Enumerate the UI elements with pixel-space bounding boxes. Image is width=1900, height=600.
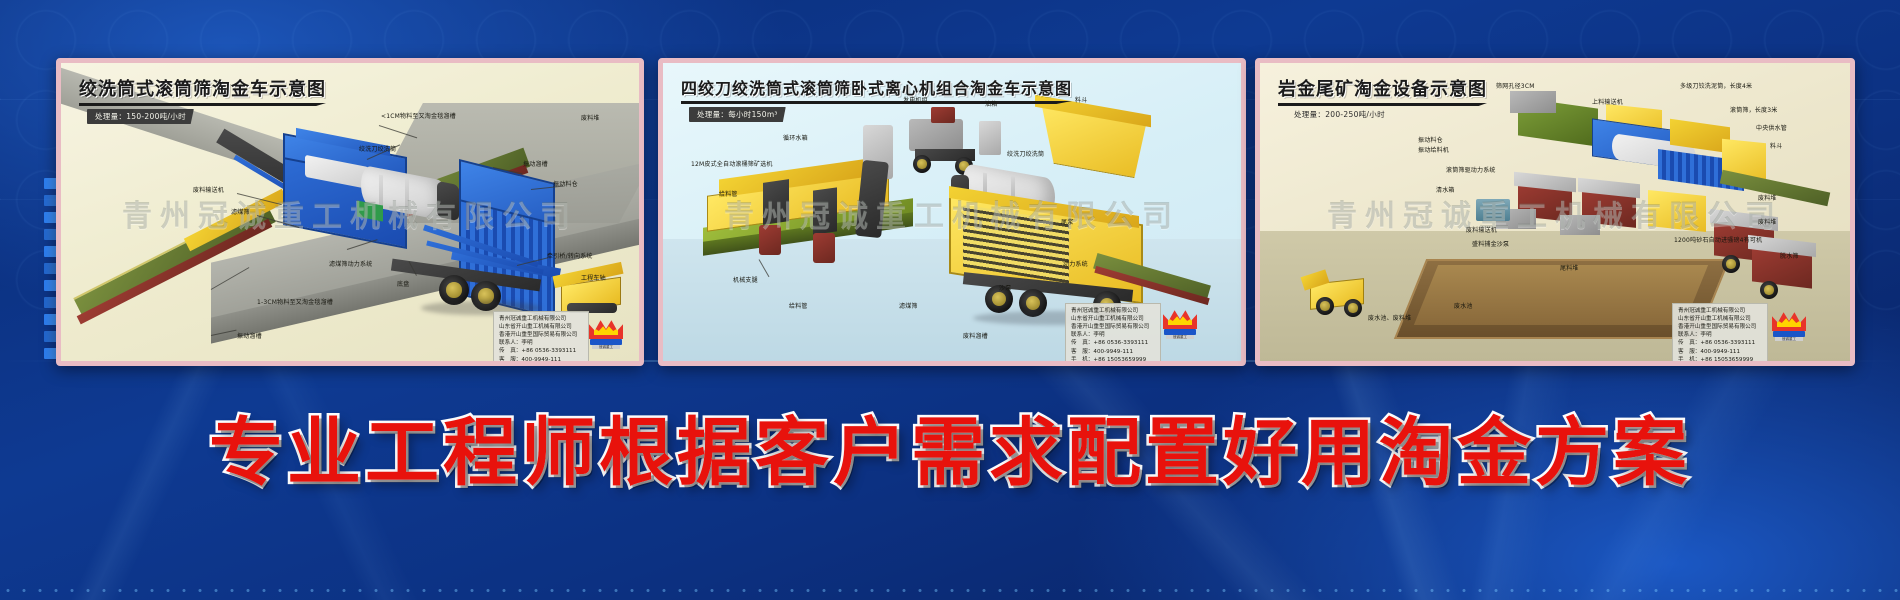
clean-water-tank — [1476, 199, 1510, 221]
label-2-8: 给料管 — [789, 303, 808, 311]
panel-1-title-rule — [79, 103, 326, 106]
label-2-5: 绞洗刀绞洗筒 — [1007, 151, 1044, 159]
panel-1-title: 绞洗筒式滚筒筛淘金车示意图 — [79, 75, 326, 101]
contact-service-label: 客 服 — [1678, 349, 1695, 355]
contact-company-1: 青州冠诚重工机械有限公司 — [1071, 307, 1155, 315]
contact-fax-label: 传 真 — [1678, 340, 1695, 346]
module-yellow-1 — [1648, 190, 1706, 232]
contact-fax-label: 传 真 — [1071, 340, 1088, 346]
label-2-7: 机械支腿 — [733, 277, 758, 285]
label-3-9: 清水箱 — [1436, 187, 1455, 195]
support-leg-2 — [813, 233, 835, 263]
label-1-1: 废料堆 — [581, 115, 600, 123]
panel-2-title: 四绞刀绞洗筒式滚筒筛卧式离心机组合淘金车示意图 — [681, 75, 1072, 99]
loader-wheel-1 — [1316, 297, 1334, 315]
label-3-3: 滚筒筛，长度3米 — [1730, 107, 1777, 115]
contact-company-3: 香港开山重型国际贸易有限公司 — [1071, 323, 1155, 331]
panel-2-title-rule — [681, 101, 1072, 104]
panel-3-title-rule — [1278, 103, 1487, 106]
label-2-9: 滤煤筛 — [899, 303, 918, 311]
panel-1-contact-card: 青州冠诚重工机械有限公司 山东省开山重工机械有限公司 香港开山重型国际贸易有限公… — [493, 311, 589, 361]
panel-1-canvas: 青州冠诚重工机械有限公司 绞洗筒式滚筒筛淘金车示意图 处理量：150-200吨/… — [61, 63, 639, 361]
panel-3-title-block: 岩金尾矿淘金设备示意图 — [1278, 75, 1487, 106]
company-logo-icon: 冠诚重工 — [589, 319, 623, 349]
label-1-11: 1-3CM物料至又淘金毯溜槽 — [257, 299, 333, 307]
label-2-3: 料斗 — [1075, 97, 1087, 105]
label-3-10: 废料输送机 — [1466, 227, 1497, 235]
logo-caption: 冠诚重工 — [1166, 335, 1194, 339]
label-3-13: 废料堆 — [1758, 219, 1777, 227]
poster-stage: 青州冠诚重工机械有限公司 绞洗筒式滚筒筛淘金车示意图 处理量：150-200吨/… — [0, 0, 1900, 600]
label-1-10: 工程车轴 — [581, 275, 606, 283]
label-3-14: 尾料堆 — [1560, 265, 1579, 273]
fuel-tank — [979, 121, 1001, 155]
contact-company-2: 山东省开山重工机械有限公司 — [1071, 315, 1155, 323]
contact-mobile: +86 15053659999 — [1093, 357, 1146, 361]
label-3-11: 盛料捕金沙泵 — [1472, 241, 1509, 249]
trommel-discharge — [437, 181, 459, 221]
logo-caption: 冠诚重工 — [1775, 337, 1803, 341]
label-2-6: 给料管 — [719, 191, 738, 199]
label-3-7: 料斗 — [1770, 143, 1782, 151]
label-2-4: 12M皮式全自动滚桶筛矿选机 — [691, 161, 773, 169]
contact-service: 400-9949-111 — [521, 357, 561, 361]
crown-icon — [589, 319, 623, 339]
screen-wheel-2 — [1760, 281, 1778, 299]
logo-caption: 冠诚重工 — [592, 345, 620, 349]
bottom-banner: 专业工程师根据客户需求配置好用淘金方案 — [0, 366, 1900, 526]
label-3-6: 中央供水管 — [1756, 125, 1787, 133]
generator-set — [909, 119, 963, 151]
label-3-1: 多级刀铰洗泥筒，长度4米 — [1680, 83, 1752, 91]
panel-rock-gold-tailings-plant[interactable]: 青州冠诚重工机械有限公司 岩金尾矿淘金设备示意图 处理量：200-250吨/小时… — [1255, 58, 1855, 366]
contact-mobile: +86 15053659999 — [1700, 357, 1753, 361]
label-2-12: 动力系统 — [1063, 261, 1088, 269]
contact-service-label: 客 服 — [1071, 349, 1088, 355]
contact-company-3: 香港开山重型国际贸易有限公司 — [499, 331, 583, 339]
contact-mobile-label: 手 机 — [1678, 357, 1695, 361]
contact-company-2: 山东省开山重工机械有限公司 — [1678, 315, 1762, 323]
label-3-2: 上料输送机 — [1592, 99, 1623, 107]
pump-unit-2 — [1560, 215, 1600, 235]
crown-icon — [1772, 311, 1806, 331]
panel-3-capacity-badge: 处理量：200-250吨/小时 — [1286, 107, 1393, 122]
label-2-0: 循环水箱 — [783, 135, 808, 143]
panel-3-contact-card: 青州冠诚重工机械有限公司 山东省开山重工机械有限公司 香港开山重型国际贸易有限公… — [1672, 303, 1768, 361]
contact-fax: +86 0536-3393111 — [1093, 340, 1148, 346]
contact-fax: +86 0536-3393111 — [521, 348, 576, 354]
label-3-18: 废水池、废料堆 — [1368, 315, 1411, 323]
label-1-9: 牵引桥/转向系统 — [547, 253, 593, 261]
panel-1-title-block: 绞洗筒式滚筒筛淘金车示意图 — [79, 75, 326, 106]
label-1-5: 废料输送机 — [193, 187, 224, 195]
label-2-13: 废料溜槽 — [963, 333, 988, 341]
contact-service-label: 客 服 — [499, 357, 516, 361]
loader-wheel-2 — [1344, 299, 1362, 317]
screen-wheel-1 — [1722, 255, 1740, 273]
contact-fax-label: 传 真 — [499, 348, 516, 354]
label-1-3: 振动溜槽 — [523, 161, 548, 169]
contact-company-2: 山东省开山重工机械有限公司 — [499, 323, 583, 331]
generator-wheel-1 — [913, 155, 931, 173]
panel-four-cutter-centrifuge-truck[interactable]: 青州冠诚重工机械有限公司 四绞刀绞洗筒式滚筒筛卧式离心机组合淘金车示意图 处理量… — [658, 58, 1246, 366]
label-2-2: 油箱 — [985, 101, 997, 109]
screen-mesh-unit — [1510, 91, 1556, 113]
contact-fax: +86 0536-3393111 — [1700, 340, 1755, 346]
label-2-10: 沙泵 — [999, 285, 1011, 293]
label-3-5: 振动给料机 — [1418, 147, 1449, 155]
panel-2-canvas: 青州冠诚重工机械有限公司 四绞刀绞洗筒式滚筒筛卧式离心机组合淘金车示意图 处理量… — [663, 63, 1241, 361]
contact-company-1: 青州冠诚重工机械有限公司 — [1678, 307, 1762, 315]
company-logo-icon: 冠诚重工 — [1163, 309, 1197, 339]
label-1-12: 振动溜槽 — [237, 333, 262, 341]
feed-pipe-1 — [763, 179, 789, 225]
label-1-7: 滤煤筛动力系统 — [329, 261, 372, 269]
label-1-0: <1CM物料至又淘金毯溜槽 — [381, 113, 456, 121]
label-3-12: 废料堆 — [1758, 195, 1777, 203]
contact-mobile-label: 手 机 — [1071, 357, 1088, 361]
crown-icon — [1163, 309, 1197, 329]
contact-company-3: 香港开山重型国际贸易有限公司 — [1678, 323, 1762, 331]
panel-2-capacity-badge: 处理量：每小时150m³ — [689, 107, 786, 122]
trommel-ring-2 — [405, 178, 409, 217]
feed-pipe-2 — [813, 187, 837, 234]
panel-3-canvas: 青州冠诚重工机械有限公司 岩金尾矿淘金设备示意图 处理量：200-250吨/小时… — [1260, 63, 1850, 361]
contact-person: 联系人：李明 — [1071, 331, 1155, 339]
contact-person: 联系人：李明 — [499, 339, 583, 347]
label-3-4: 振动料仓 — [1418, 137, 1443, 145]
label-2-1: 发电机组 — [903, 97, 928, 105]
contact-company-1: 青州冠诚重工机械有限公司 — [499, 315, 583, 323]
label-1-4: 振动料仓 — [553, 181, 578, 189]
decor-dot-row — [0, 587, 1900, 594]
panel-2-contact-card: 青州冠诚重工机械有限公司 山东省开山重工机械有限公司 香港开山重型国际贸易有限公… — [1065, 303, 1161, 361]
label-3-0: 筛网孔径3CM — [1496, 83, 1535, 91]
label-1-8: 底盘 — [397, 281, 409, 289]
contact-person: 联系人：李明 — [1678, 331, 1762, 339]
support-leg-1 — [759, 225, 781, 255]
label-3-17: 1200吨砂石自动进骚磅4有可机 — [1674, 237, 1762, 245]
company-logo-icon: 冠诚重工 — [1772, 311, 1806, 341]
label-1-6: 滤煤筛 — [231, 209, 250, 217]
banner-headline: 专业工程师根据客户需求配置好用淘金方案 — [209, 393, 1691, 500]
panel-3-title: 岩金尾矿淘金设备示意图 — [1278, 75, 1487, 101]
label-3-8: 滚筒筛驱动力系统 — [1446, 167, 1496, 175]
diagram-panels: 青州冠诚重工机械有限公司 绞洗筒式滚筒筛淘金车示意图 处理量：150-200吨/… — [0, 58, 1900, 358]
settling-pond-floor — [1414, 265, 1708, 325]
contact-service: 400-9949-111 — [1700, 349, 1740, 355]
panel-2-title-block: 四绞刀绞洗筒式滚筒筛卧式离心机组合淘金车示意图 — [681, 75, 1072, 104]
panel-trommel-gold-truck[interactable]: 青州冠诚重工机械有限公司 绞洗筒式滚筒筛淘金车示意图 处理量：150-200吨/… — [56, 58, 644, 366]
label-3-16: 脱水筛 — [1780, 253, 1799, 261]
panel-1-capacity-badge: 处理量：150-200吨/小时 — [87, 109, 194, 124]
label-3-15: 废水池 — [1454, 303, 1473, 311]
generator-engine — [931, 107, 955, 123]
label-2-11: 尾浆 — [1061, 219, 1073, 227]
contact-service: 400-9949-111 — [1093, 349, 1133, 355]
label-1-2: 绞洗刀绞洗筒 — [359, 146, 396, 154]
